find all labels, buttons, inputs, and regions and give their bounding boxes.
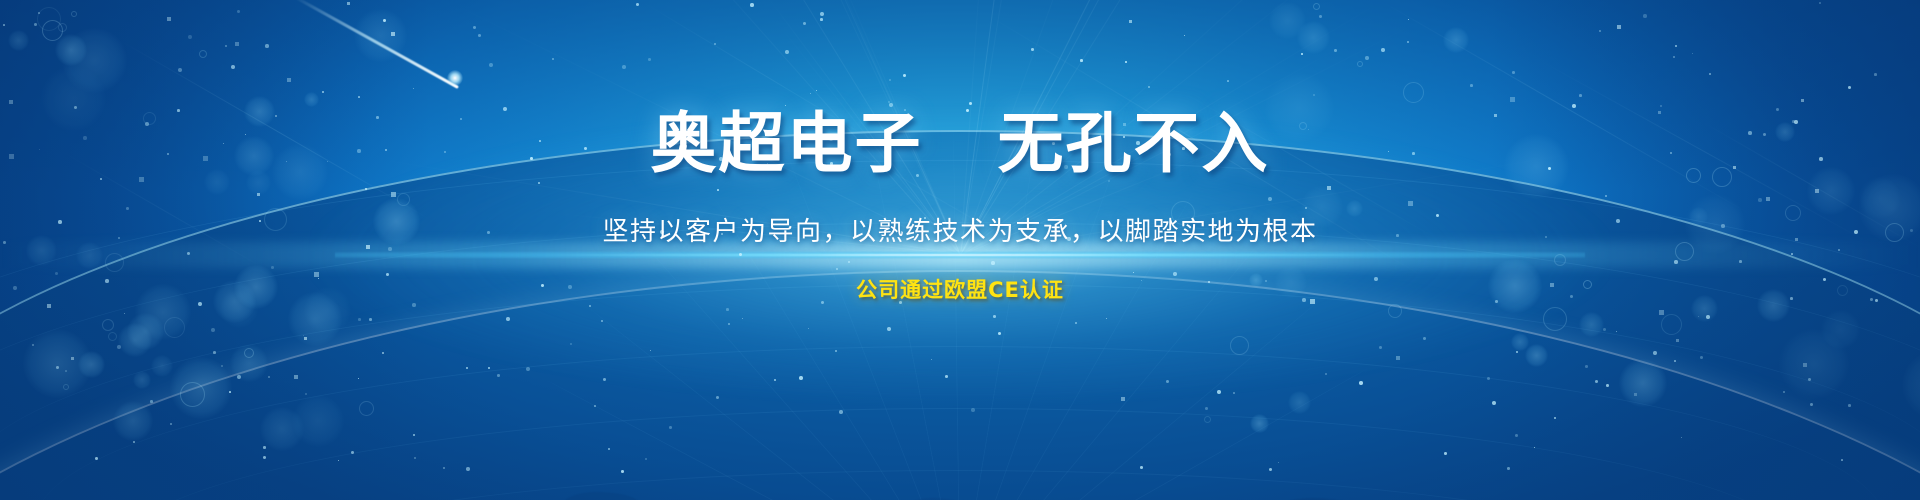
certification-badge: 公司通过欧盟CE认证 bbox=[0, 274, 1920, 304]
banner-subtitle: 坚持以客户为导向，以熟练技术为支承，以脚踏实地为根本 bbox=[0, 211, 1920, 248]
hero-banner: 奥超电子 无孔不入 坚持以客户为导向，以熟练技术为支承，以脚踏实地为根本 公司通… bbox=[0, 0, 1920, 500]
banner-headline: 奥超电子 无孔不入 bbox=[0, 108, 1920, 179]
banner-content: 奥超电子 无孔不入 坚持以客户为导向，以熟练技术为支承，以脚踏实地为根本 公司通… bbox=[0, 0, 1920, 304]
